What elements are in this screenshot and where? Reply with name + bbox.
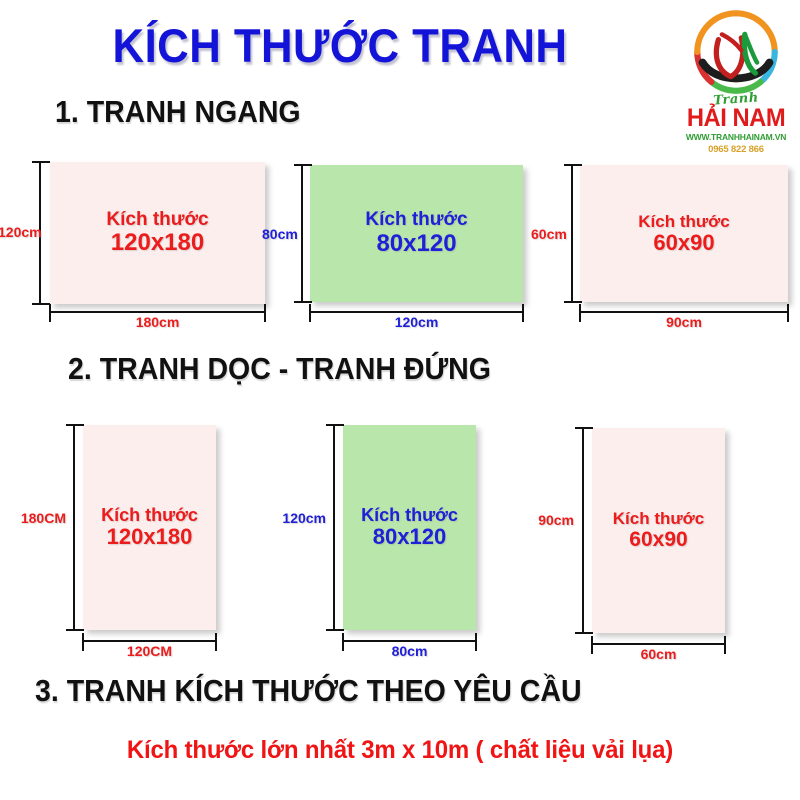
size-box-horizontal-80x120: Kích thước 80x120 (310, 165, 523, 302)
logo-website: WWW.TRANHHAINAM.VN (676, 132, 796, 142)
dimension-label-width: 60cm (592, 647, 725, 661)
size-box-caption: Kích thước (365, 209, 467, 230)
brand-logo: Tranh HẢI NAM WWW.TRANHHAINAM.VN 0965 82… (676, 8, 796, 158)
dimension-label-height: 120cm (282, 511, 326, 525)
logo-brand-name: HẢI NAM (679, 106, 793, 131)
logo-phone: 0965 822 866 (676, 144, 796, 155)
dimension-line-horizontal (580, 311, 788, 313)
size-box-value: 80x120 (373, 525, 446, 550)
dimension-line-horizontal (592, 643, 725, 645)
size-box-vertical-120x180: Kích thước 120x180 (83, 425, 216, 630)
logo-emblem-icon (692, 8, 780, 96)
dimension-line-vertical (73, 425, 75, 630)
dimension-line-vertical (571, 165, 573, 302)
dimension-line-horizontal (310, 311, 523, 313)
size-box-value: 120x180 (111, 230, 204, 257)
size-box-caption: Kích thước (613, 509, 704, 528)
section-heading-3: 3. TRANH KÍCH THƯỚC THEO YÊU CẦU (35, 675, 582, 706)
dimension-label-width: 90cm (580, 315, 788, 329)
dimension-label-width: 120CM (83, 644, 216, 658)
poster-canvas: KÍCH THƯỚC TRANH Tranh HẢI NAM WWW.TRANH… (0, 0, 800, 800)
dimension-label-width: 120cm (310, 315, 523, 329)
dimension-label-height: 60cm (531, 227, 565, 241)
size-box-horizontal-60x90: Kích thước 60x90 (580, 165, 788, 302)
dimension-label-width: 180cm (50, 315, 265, 329)
size-box-vertical-80x120: Kích thước 80x120 (343, 425, 476, 630)
dimension-label-height: 180CM (20, 511, 66, 525)
size-box-value: 120x180 (107, 525, 193, 550)
dimension-line-horizontal (83, 640, 216, 642)
size-box-value: 60x90 (629, 528, 687, 552)
size-box-caption: Kích thước (638, 212, 729, 231)
dimension-line-vertical (301, 165, 303, 302)
size-box-horizontal-120x180: Kích thước 120x180 (50, 162, 265, 304)
size-box-value: 80x120 (376, 231, 456, 258)
dimension-line-horizontal (343, 640, 476, 642)
page-title: KÍCH THƯỚC TRANH (24, 22, 656, 69)
section-heading-2: 2. TRANH DỌC - TRANH ĐỨNG (68, 353, 491, 384)
dimension-label-width: 80cm (343, 644, 476, 658)
size-box-value: 60x90 (653, 231, 714, 256)
dimension-line-vertical (582, 428, 584, 633)
dimension-line-vertical (333, 425, 335, 630)
dimension-label-height: 120cm (0, 225, 36, 239)
section-heading-1: 1. TRANH NGANG (55, 96, 301, 127)
size-box-caption: Kích thước (361, 505, 458, 525)
size-box-caption: Kích thước (106, 209, 208, 230)
dimension-label-height: 90cm (532, 513, 574, 527)
dimension-line-horizontal (50, 311, 265, 313)
dimension-label-height: 80cm (262, 227, 296, 241)
size-box-caption: Kích thước (101, 505, 198, 525)
size-box-vertical-60x90: Kích thước 60x90 (592, 428, 725, 633)
footer-note: Kích thước lớn nhất 3m x 10m ( chất liệu… (16, 738, 784, 763)
